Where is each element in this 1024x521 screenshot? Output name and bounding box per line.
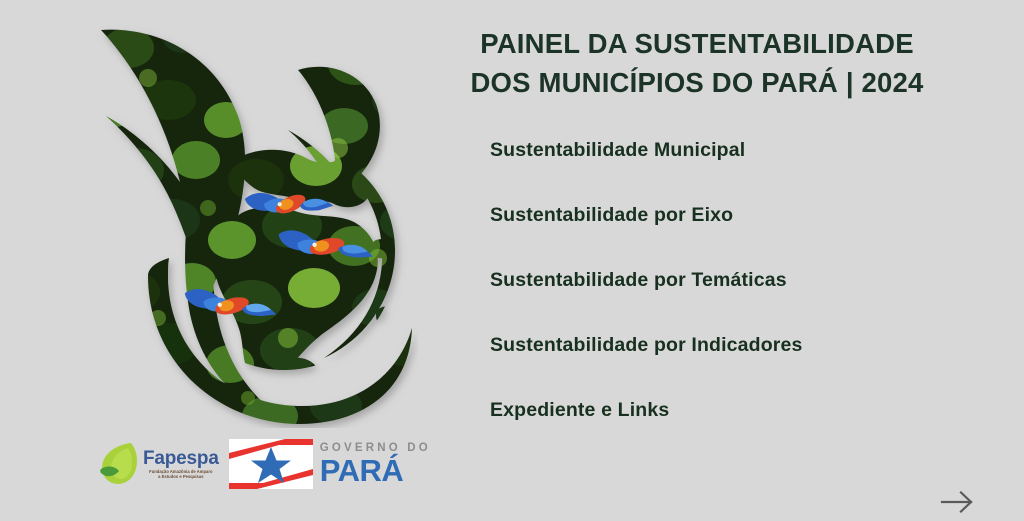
slide-canvas: PAINEL DA SUSTENTABILIDADE DOS MUNICÍPIO… [0, 0, 1024, 521]
para-state-label: PARÁ [320, 455, 431, 486]
page-title: PAINEL DA SUSTENTABILIDADE DOS MUNICÍPIO… [462, 24, 932, 102]
arrow-right-icon[interactable] [938, 489, 978, 515]
menu-item-expediente-e-links[interactable]: Expediente e Links [490, 388, 950, 453]
governo-do-para-logo[interactable]: GOVERNO DO PARÁ [229, 438, 431, 490]
para-flag-icon [229, 439, 313, 489]
fapespa-name: Fapespa [143, 449, 219, 469]
menu-item-sustentabilidade-por-eixo[interactable]: Sustentabilidade por Eixo [490, 193, 950, 258]
title-line-1: PAINEL DA SUSTENTABILIDADE [462, 24, 932, 63]
menu-item-sustentabilidade-municipal[interactable]: Sustentabilidade Municipal [490, 128, 950, 193]
title-line-2: DOS MUNICÍPIOS DO PARÁ | 2024 [462, 63, 932, 102]
fapespa-wordmark: Fapespa Fundação Amazônia de Amparo a Es… [143, 439, 219, 489]
main-menu: Sustentabilidade Municipal Sustentabilid… [490, 128, 950, 453]
fapespa-leaf-icon [98, 439, 142, 489]
fapespa-logo[interactable]: Fapespa Fundação Amazônia de Amparo a Es… [98, 438, 219, 490]
leaf-globe-macaws-illustration [88, 8, 418, 428]
fapespa-tagline-line-2: a Estudos e Pesquisas [143, 474, 219, 479]
menu-item-sustentabilidade-por-indicadores[interactable]: Sustentabilidade por Indicadores [490, 323, 950, 388]
para-wordmark: GOVERNO DO PARÁ [320, 442, 431, 486]
logo-bar: Fapespa Fundação Amazônia de Amparo a Es… [98, 436, 431, 492]
menu-item-sustentabilidade-por-tematicas[interactable]: Sustentabilidade por Temáticas [490, 258, 950, 323]
